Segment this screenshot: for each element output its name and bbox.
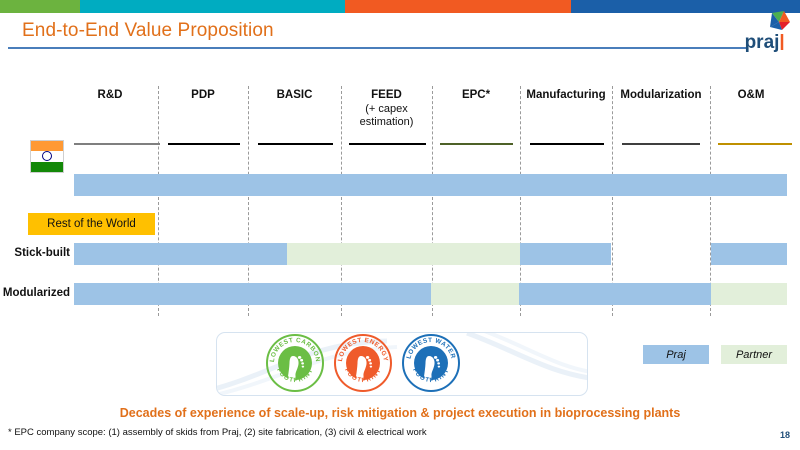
column-underline-4 [440, 143, 513, 145]
column-header-label: R&D [62, 89, 158, 103]
bar-stick-built-praj-0 [74, 243, 287, 265]
flag-band-saffron [31, 141, 63, 151]
column-underline-2 [258, 143, 333, 145]
column-underline-5 [530, 143, 604, 145]
page-title: End-to-End Value Proposition [22, 20, 274, 42]
lowest-carbon-footprint-badge: LOWEST CARBONFOOTPRINT [266, 334, 324, 392]
column-divider-0 [158, 86, 159, 316]
praj-pinwheel-icon [770, 11, 790, 30]
bar-stick-built-partner-1 [287, 243, 520, 265]
column-header-manufacturing: Manufacturing [520, 89, 612, 103]
column-underline-0 [74, 143, 160, 145]
column-header-feed: FEED(+ capexestimation) [341, 89, 432, 130]
legend-item-praj: Praj [643, 345, 709, 364]
column-header-basic: BASIC [248, 89, 341, 103]
column-divider-5 [612, 86, 613, 316]
flag-band-white [31, 151, 63, 161]
lowest-energy-footprint-badge: LOWEST ENERGYFOOTPRINT [334, 334, 392, 392]
footnote-text: * EPC company scope: (1) assembly of ski… [8, 427, 427, 438]
column-divider-3 [432, 86, 433, 316]
title-underline [8, 47, 748, 49]
column-header-label: Modularization [612, 89, 710, 103]
ribbon-segment-teal [80, 0, 345, 13]
bar-stick-built-praj-2 [520, 243, 611, 265]
flag-band-green [31, 162, 63, 172]
legend-item-partner: Partner [721, 345, 787, 364]
top-color-ribbon [0, 0, 800, 13]
column-header-label: Manufacturing [520, 89, 612, 103]
column-header-pdp: PDP [158, 89, 248, 103]
column-header-label: O&M [710, 89, 792, 103]
column-underline-1 [168, 143, 240, 145]
ashoka-chakra-icon [42, 151, 52, 161]
tagline-text: Decades of experience of scale-up, risk … [0, 406, 800, 420]
column-header-o-m: O&M [710, 89, 792, 103]
praj-logo-text: praj [745, 32, 780, 53]
footprint-badges: LOWEST CARBONFOOTPRINTLOWEST ENERGYFOOTP… [266, 334, 476, 392]
column-header-r-d: R&D [62, 89, 158, 103]
bar-modularized-praj-0 [74, 283, 431, 305]
row-label-modularized: Modularized [0, 287, 70, 299]
column-underline-3 [349, 143, 426, 145]
bar-modularized-praj-2 [519, 283, 711, 305]
slide-canvas: End-to-End Value Proposition praj R&DPDP… [0, 0, 800, 450]
praj-logo: praj [732, 10, 794, 54]
column-underline-7 [718, 143, 792, 145]
lowest-water-footprint-badge: LOWEST WATERFOOTPRINT [402, 334, 460, 392]
column-divider-1 [248, 86, 249, 316]
bar-modularized-partner-3 [711, 283, 787, 305]
column-header-sublabel: estimation) [341, 116, 432, 130]
column-header-label: FEED [341, 89, 432, 103]
column-header-label: EPC* [432, 89, 520, 103]
ribbon-segment-green [0, 0, 80, 13]
bar-india-praj-0 [74, 174, 787, 196]
page-number: 18 [780, 430, 790, 440]
bar-modularized-partner-1 [431, 283, 519, 305]
column-header-epc: EPC* [432, 89, 520, 103]
india-flag-icon [30, 140, 64, 173]
column-header-sublabel: (+ capex [341, 103, 432, 117]
column-header-label: BASIC [248, 89, 341, 103]
row-label-stick-built: Stick-built [0, 247, 70, 259]
rest-of-the-world-badge: Rest of the World [28, 213, 155, 235]
chart-legend: PrajPartner [643, 345, 787, 364]
column-header-modularization: Modularization [612, 89, 710, 103]
column-underline-6 [622, 143, 700, 145]
column-header-label: PDP [158, 89, 248, 103]
column-divider-6 [710, 86, 711, 316]
column-divider-4 [520, 86, 521, 316]
bar-stick-built-praj-3 [711, 243, 787, 265]
ribbon-segment-orange [345, 0, 571, 13]
